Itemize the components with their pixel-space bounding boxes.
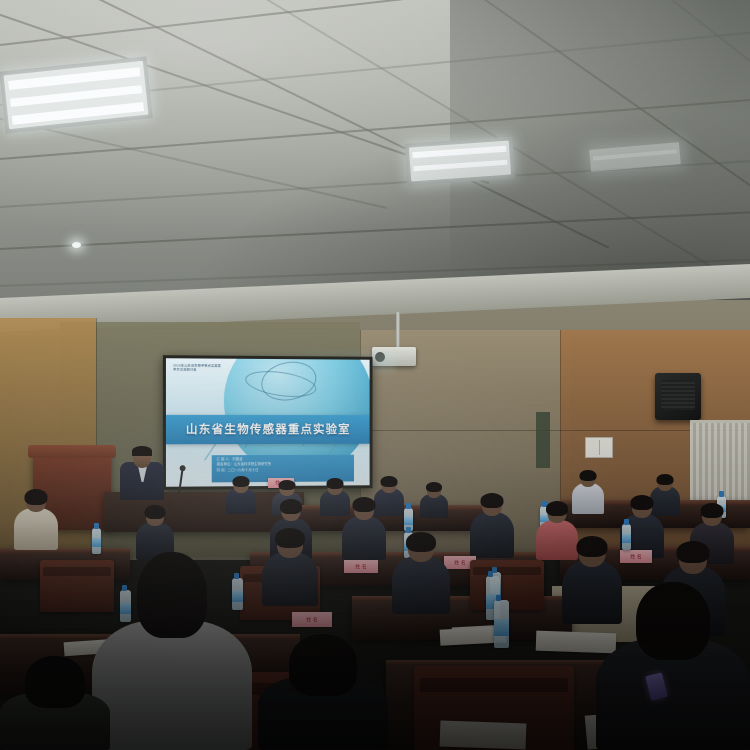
slide-main-title: 山东省生物传感器重点实验室 [186, 421, 351, 437]
person-hair [275, 528, 305, 548]
audience-member-foreground [596, 582, 750, 750]
audience-member-foreground [258, 636, 388, 750]
projection-screen: 2016年山东省生物学重点实验室 学术交流研讨会 山东省生物传感器重点实验室 汇… [166, 358, 370, 487]
name-tent-card: 姓 名 [292, 612, 332, 627]
bottle-label [404, 517, 413, 525]
wall-board [536, 412, 550, 468]
name-tent-card: 姓 名 [344, 560, 378, 573]
audience-member-foreground [92, 552, 252, 750]
presenter-hair [132, 446, 152, 456]
person-hair [636, 582, 710, 660]
person-hair [631, 495, 654, 510]
person-hair [327, 478, 344, 489]
person-hair [280, 499, 302, 514]
person-hair [233, 476, 250, 487]
person-hair [426, 482, 442, 492]
name-tent-text: 姓 名 [454, 559, 465, 566]
audience-member [14, 492, 58, 550]
person-hair [580, 470, 597, 481]
water-bottle [494, 600, 509, 648]
slide-title-band: 山东省生物传感器重点实验室 [166, 415, 370, 445]
person-hair [137, 552, 207, 638]
person-hair [481, 493, 504, 508]
person-body [262, 552, 318, 606]
conference-hall-photo: 2016年山东省生物学重点实验室 学术交流研讨会 山东省生物传感器重点实验室 汇… [0, 0, 750, 750]
slide-header-line-2: 学术交流研讨会 [173, 368, 266, 373]
person-body [14, 508, 58, 550]
name-tent-text: 姓 名 [355, 563, 366, 570]
audience-member [342, 500, 386, 560]
person-hair [546, 501, 568, 516]
person-body [92, 620, 252, 750]
wall-speaker-icon [655, 373, 701, 420]
person-hair [406, 532, 436, 552]
person-hair [381, 476, 398, 487]
bottle-label [92, 538, 101, 547]
audience-member [470, 496, 514, 558]
person-hair [279, 480, 296, 490]
name-tent-card: 姓 名 [620, 550, 652, 563]
ceiling-projector [372, 347, 416, 366]
bottle-label [494, 619, 509, 635]
person-hair [25, 656, 85, 708]
audience-member [262, 532, 318, 606]
slide-info-line-3: 时 间：二〇一六年十月十日 [217, 467, 349, 473]
projection-screen-frame: 2016年山东省生物学重点实验室 学术交流研讨会 山东省生物传感器重点实验室 汇… [163, 355, 373, 490]
paper-handout [440, 721, 527, 750]
person-body [392, 556, 450, 614]
person-body [342, 516, 386, 560]
person-hair [145, 505, 166, 519]
name-tent-text: 姓 名 [630, 553, 641, 560]
audience-member [420, 484, 448, 518]
audience-member [226, 478, 256, 514]
person-hair [657, 474, 674, 485]
person-hair [577, 536, 608, 557]
person-body [470, 512, 514, 558]
slide-header: 2016年山东省生物学重点实验室 学术交流研讨会 [173, 363, 266, 372]
light-switch-plate[interactable] [585, 437, 613, 458]
audience-member-foreground [0, 660, 110, 750]
bottle-label [622, 534, 631, 543]
water-bottle [92, 528, 101, 554]
person-hair [25, 489, 48, 505]
person-hair [677, 541, 710, 563]
name-tent-text: 姓 名 [306, 616, 317, 623]
person-hair [701, 503, 724, 518]
water-bottle [622, 524, 631, 550]
person-hair [289, 634, 357, 696]
person-hair [353, 497, 376, 512]
audience-member [392, 536, 450, 614]
projector-mount-pole [396, 312, 400, 350]
